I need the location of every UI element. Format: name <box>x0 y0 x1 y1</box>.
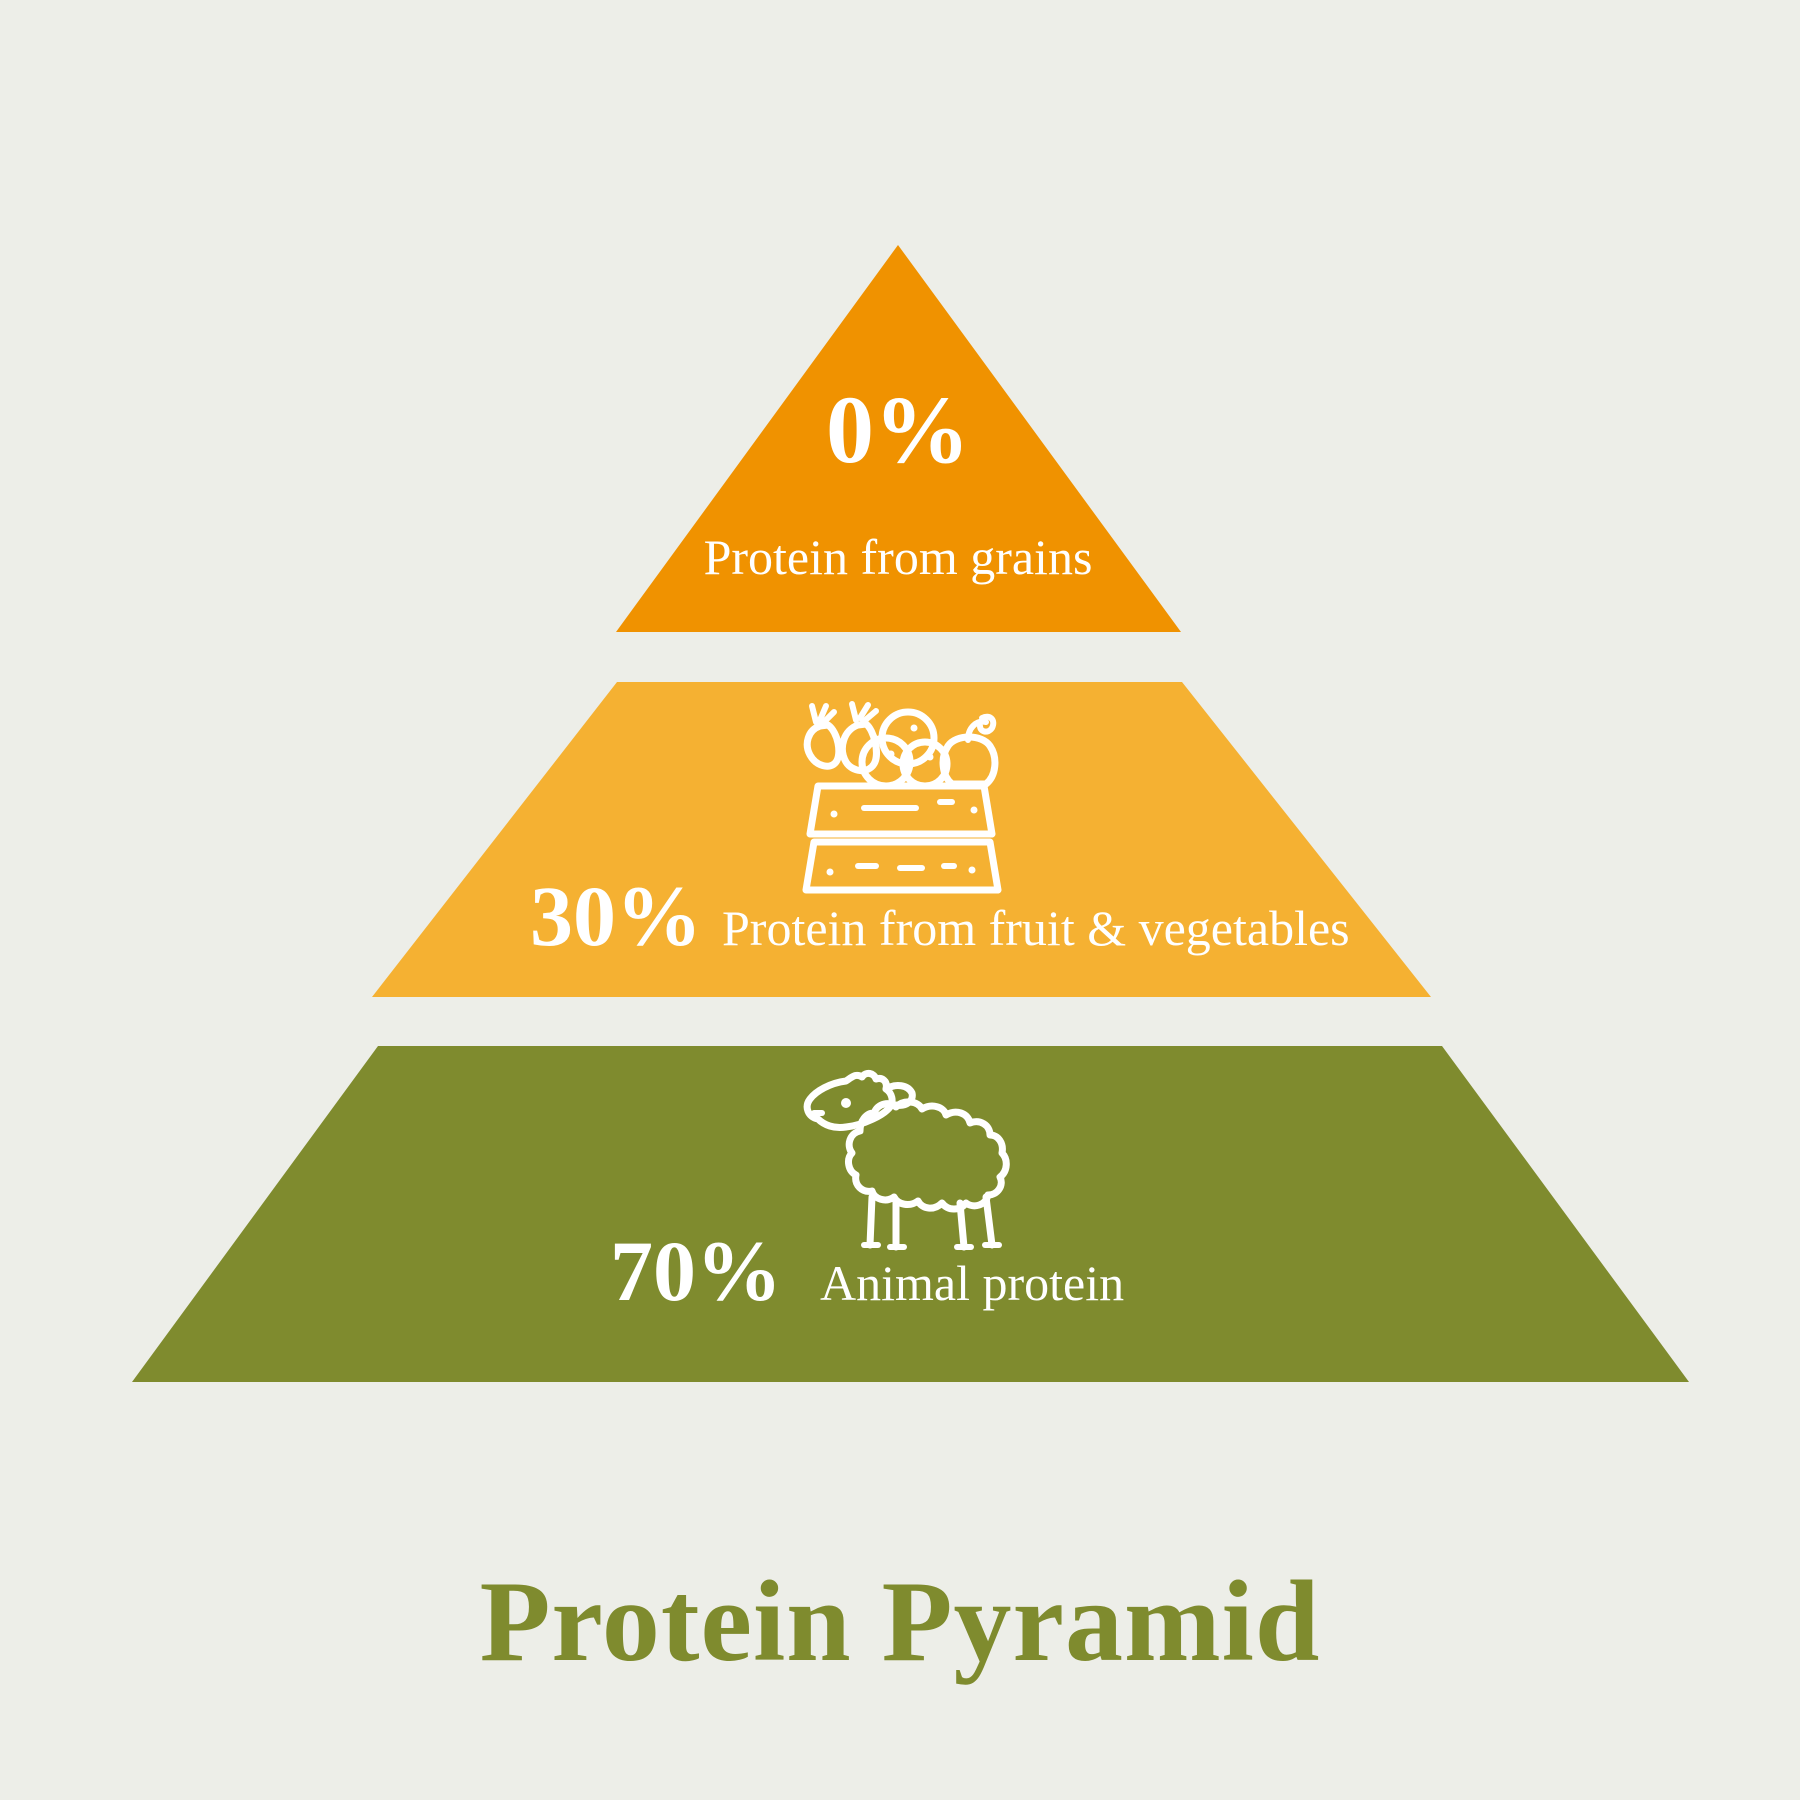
tier-bottom-label: Animal protein <box>820 1255 1124 1311</box>
tier-middle-value: 30% <box>530 868 702 964</box>
tier-top-label: Protein from grains <box>704 529 1093 585</box>
pyramid-tier-bottom[interactable]: 70% Animal protein <box>132 1046 1689 1382</box>
tier-middle-label: Protein from fruit & vegetables <box>722 900 1350 956</box>
pyramid-tier-top[interactable]: 0% Protein from grains <box>616 245 1181 632</box>
protein-pyramid-chart: 0% Protein from grains <box>0 0 1800 1800</box>
pyramid-infographic: 0% Protein from grains <box>0 0 1800 1800</box>
pyramid-tier-middle[interactable]: 30% Protein from fruit & vegetables <box>372 682 1431 997</box>
tier-top-value: 0% <box>826 376 970 483</box>
tier-bottom-value: 70% <box>610 1223 782 1319</box>
page-title: Protein Pyramid <box>480 1558 1321 1686</box>
